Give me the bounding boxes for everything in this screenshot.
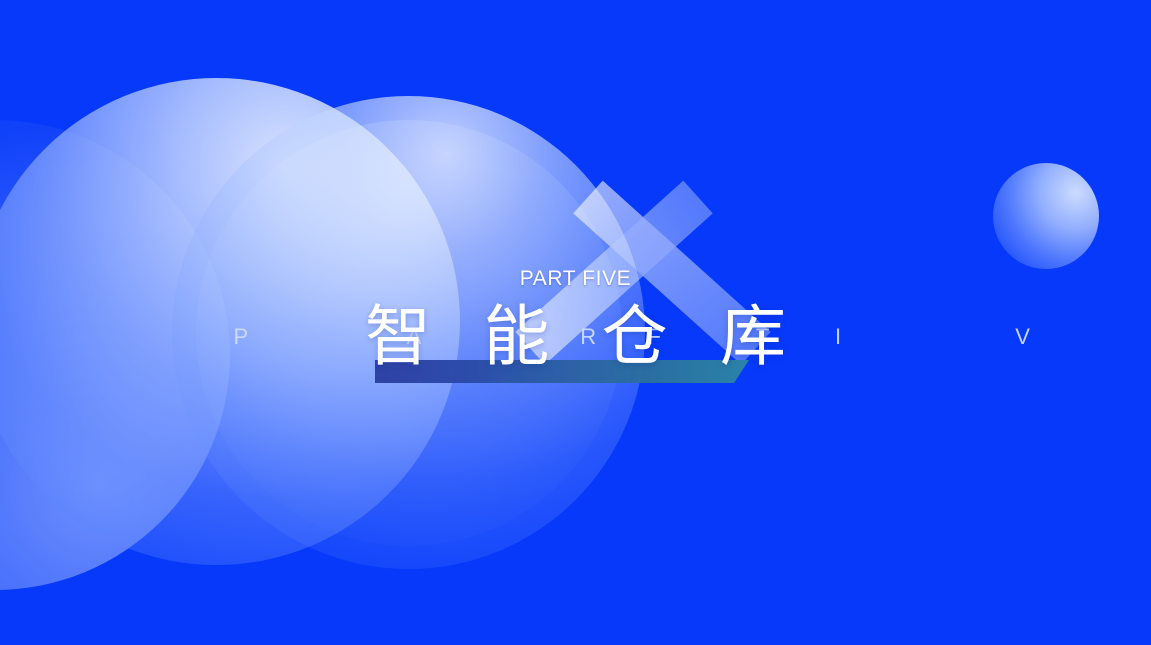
small-gradient-sphere-shape <box>993 163 1099 269</box>
section-title: 智 能 仓 库 <box>0 296 1151 376</box>
section-eyebrow-label: PART FIVE <box>0 266 1151 292</box>
chevron-arrow-icon <box>470 55 815 270</box>
slide-canvas: P A R T F I V E PART FIVE 智 能 仓 库 <box>0 0 1151 645</box>
